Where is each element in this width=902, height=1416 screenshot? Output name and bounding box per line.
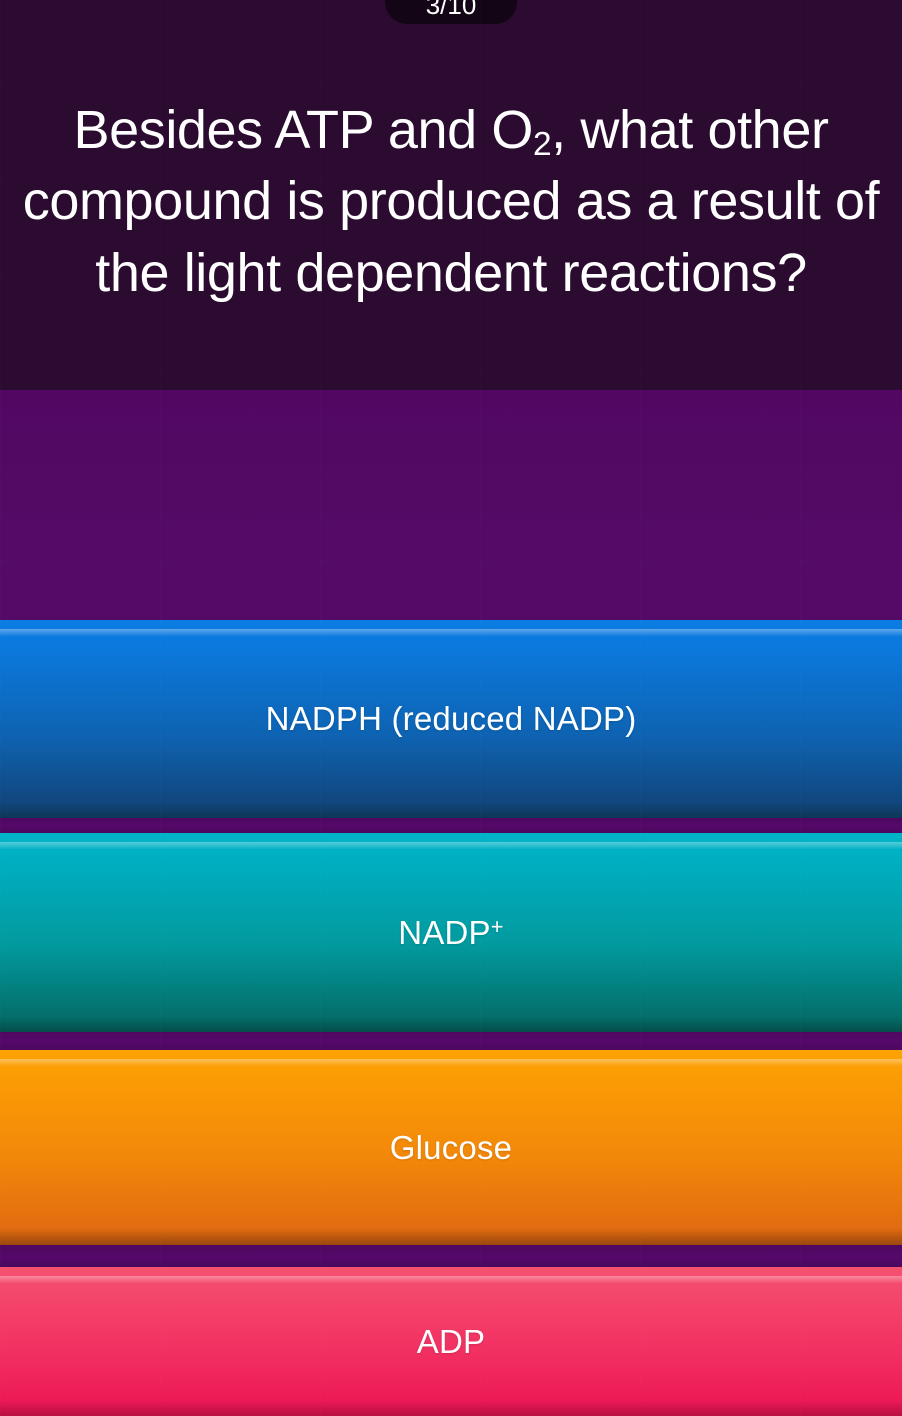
answer-label-superscript: + — [491, 914, 504, 939]
question-counter-badge: 3/10 — [385, 0, 517, 24]
question-subscript: 2 — [533, 126, 551, 163]
question-media-area — [0, 390, 902, 620]
option-bottom-shade — [0, 1016, 902, 1032]
answer-option-nadp-plus[interactable]: NADP+ — [0, 833, 902, 1032]
option-bottom-shade — [0, 802, 902, 818]
answer-option-divider — [0, 1032, 902, 1050]
answer-label-text: NADPH (reduced NADP) — [266, 700, 637, 737]
question-text-part-before: Besides ATP and O — [73, 100, 532, 160]
question-header: 3/10 Besides ATP and O2, what other comp… — [0, 0, 902, 390]
answer-option-divider — [0, 1245, 902, 1267]
answer-option-nadph[interactable]: NADPH (reduced NADP) — [0, 620, 902, 818]
answer-options-list: NADPH (reduced NADP) NADP+ Glucose ADP — [0, 620, 902, 1416]
answer-option-label: ADP — [417, 1323, 485, 1361]
option-bottom-shade — [0, 1400, 902, 1416]
option-bottom-shade — [0, 1229, 902, 1245]
answer-label-text: Glucose — [390, 1129, 512, 1166]
option-gloss-highlight — [0, 1059, 902, 1066]
question-counter-label: 3/10 — [426, 0, 477, 21]
answer-option-label: Glucose — [390, 1129, 512, 1167]
question-text: Besides ATP and O2, what other compound … — [6, 77, 896, 309]
option-gloss-highlight — [0, 629, 902, 636]
option-gloss-highlight — [0, 842, 902, 849]
answer-label-text: NADP — [398, 914, 491, 951]
answer-option-label: NADPH (reduced NADP) — [266, 700, 637, 738]
answer-option-divider — [0, 818, 902, 833]
option-gloss-highlight — [0, 1276, 902, 1283]
answer-option-label: NADP+ — [398, 914, 503, 952]
answer-option-glucose[interactable]: Glucose — [0, 1050, 902, 1245]
answer-label-text: ADP — [417, 1323, 485, 1360]
quiz-screen: 3/10 Besides ATP and O2, what other comp… — [0, 0, 902, 1416]
answer-option-adp[interactable]: ADP — [0, 1267, 902, 1416]
